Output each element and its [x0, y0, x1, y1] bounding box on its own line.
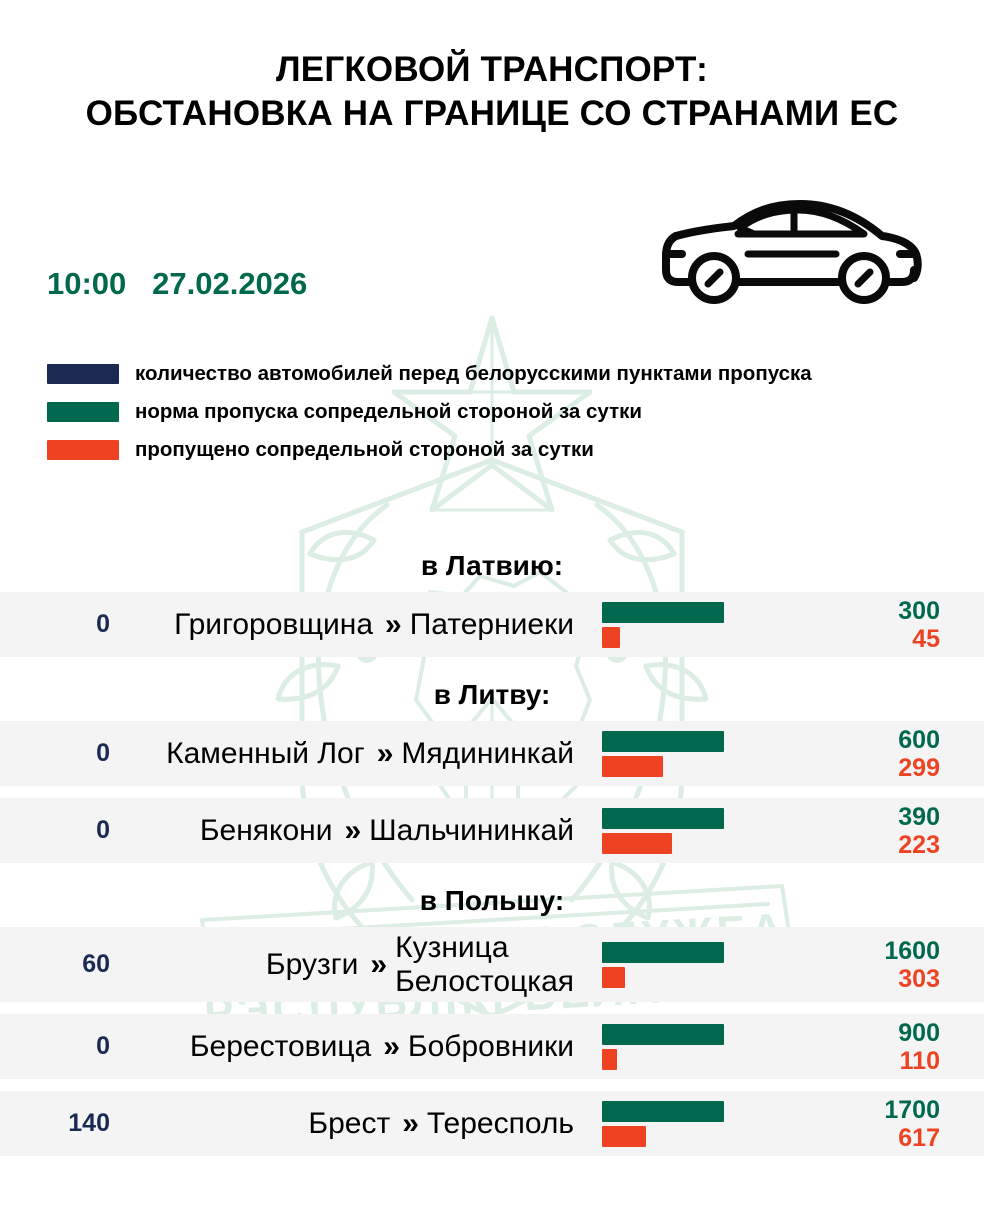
bar-passed [602, 1126, 646, 1147]
legend-item-passed: пропущено сопредельной стороной за сутки [47, 431, 812, 469]
checkpoint-to: Мядининкай [401, 737, 574, 771]
checkpoint-to: Кузница Белостоцкая [395, 931, 574, 998]
bar-norm [602, 1024, 724, 1045]
timestamp: 10:00 27.02.2026 [47, 266, 307, 302]
value-passed: 617 [820, 1124, 940, 1152]
value-norm: 1700 [820, 1096, 940, 1124]
double-chevron-icon: » [344, 814, 357, 848]
bar-norm [602, 602, 724, 623]
value-group: 390223 [820, 803, 984, 859]
page-title: ЛЕГКОВОЙ ТРАНСПОРТ: ОБСТАНОВКА НА ГРАНИЦ… [0, 0, 984, 136]
value-passed: 45 [820, 625, 940, 653]
checkpoint-from: Берестовица [190, 1030, 371, 1064]
checkpoint-from: Бенякони [200, 814, 333, 848]
route: Брузги»Кузница Белостоцкая [110, 931, 592, 998]
table-row: 0Каменный Лог»Мядининкай600299 [0, 721, 984, 786]
row-gap [0, 1079, 984, 1091]
bar-norm [602, 731, 724, 752]
value-passed: 110 [820, 1047, 940, 1075]
value-passed: 223 [820, 831, 940, 859]
value-group: 30045 [820, 597, 984, 653]
value-norm: 600 [820, 726, 940, 754]
section-heading: в Латвию: [0, 540, 984, 592]
checkpoint-to: Шальчининкай [369, 814, 574, 848]
row-gap [0, 657, 984, 669]
checkpoint-from: Брест [308, 1107, 390, 1141]
bar-passed [602, 967, 625, 988]
queue-count: 140 [0, 1109, 110, 1138]
bar-norm [602, 942, 724, 963]
value-group: 1600303 [820, 937, 984, 993]
bar-group [592, 600, 820, 650]
value-group: 900110 [820, 1019, 984, 1075]
bar-group [592, 729, 820, 779]
legend: количество автомобилей перед белорусским… [47, 355, 812, 469]
section-heading: в Польшу: [0, 875, 984, 927]
route: Берестовица»Бобровники [110, 1030, 592, 1064]
checkpoint-from: Каменный Лог [166, 737, 365, 771]
title-line-1: ЛЕГКОВОЙ ТРАНСПОРТ: [276, 50, 708, 89]
bar-norm [602, 1101, 724, 1122]
legend-label-norm: норма пропуска сопредельной стороной за … [135, 400, 642, 424]
legend-item-queue: количество автомобилей перед белорусским… [47, 355, 812, 393]
value-norm: 1600 [820, 937, 940, 965]
bar-group [592, 940, 820, 990]
queue-count: 0 [0, 816, 110, 845]
row-gap [0, 1002, 984, 1014]
value-norm: 300 [820, 597, 940, 625]
legend-label-queue: количество автомобилей перед белорусским… [135, 362, 812, 386]
value-norm: 900 [820, 1019, 940, 1047]
route: Брест»Тересполь [110, 1107, 592, 1141]
double-chevron-icon: » [383, 1030, 396, 1064]
bar-passed [602, 756, 663, 777]
value-norm: 390 [820, 803, 940, 831]
checkpoint-to: Бобровники [408, 1030, 574, 1064]
route: Каменный Лог»Мядининкай [110, 737, 592, 771]
section-heading: в Литву: [0, 669, 984, 721]
legend-swatch-queue [47, 364, 119, 384]
queue-count: 0 [0, 739, 110, 768]
bar-group [592, 1022, 820, 1072]
value-group: 1700617 [820, 1096, 984, 1152]
table-row: 60Брузги»Кузница Белостоцкая1600303 [0, 927, 984, 1002]
bar-norm [602, 808, 724, 829]
value-passed: 303 [820, 965, 940, 993]
double-chevron-icon: » [402, 1107, 415, 1141]
queue-count: 0 [0, 610, 110, 639]
row-gap [0, 863, 984, 875]
table-row: 140Брест»Тересполь1700617 [0, 1091, 984, 1156]
bar-passed [602, 833, 672, 854]
value-group: 600299 [820, 726, 984, 782]
checkpoint-from: Григоровщина [174, 608, 373, 642]
legend-item-norm: норма пропуска сопредельной стороной за … [47, 393, 812, 431]
title-line-2: ОБСТАНОВКА НА ГРАНИЦЕ СО СТРАНАМИ ЕС [0, 92, 984, 136]
route: Григоровщина»Патерниеки [110, 608, 592, 642]
row-gap [0, 786, 984, 798]
table-row: 0Бенякони»Шальчининкай390223 [0, 798, 984, 863]
bar-group [592, 806, 820, 856]
double-chevron-icon: » [370, 948, 383, 982]
bar-passed [602, 627, 620, 648]
queue-count: 60 [0, 950, 110, 979]
legend-label-passed: пропущено сопредельной стороной за сутки [135, 438, 594, 462]
checkpoint-to: Патерниеки [410, 608, 574, 642]
queue-count: 0 [0, 1032, 110, 1061]
table-row: 0Берестовица»Бобровники900110 [0, 1014, 984, 1079]
legend-swatch-passed [47, 440, 119, 460]
bar-group [592, 1099, 820, 1149]
bar-passed [602, 1049, 617, 1070]
border-crossing-table: в Латвию:0Григоровщина»Патерниеки30045в … [0, 540, 984, 1156]
value-passed: 299 [820, 754, 940, 782]
double-chevron-icon: » [385, 608, 398, 642]
car-icon [660, 192, 928, 304]
table-row: 0Григоровщина»Патерниеки30045 [0, 592, 984, 657]
route: Бенякони»Шальчининкай [110, 814, 592, 848]
legend-swatch-norm [47, 402, 119, 422]
checkpoint-from: Брузги [266, 948, 359, 982]
double-chevron-icon: » [377, 737, 390, 771]
checkpoint-to: Тересполь [427, 1107, 574, 1141]
